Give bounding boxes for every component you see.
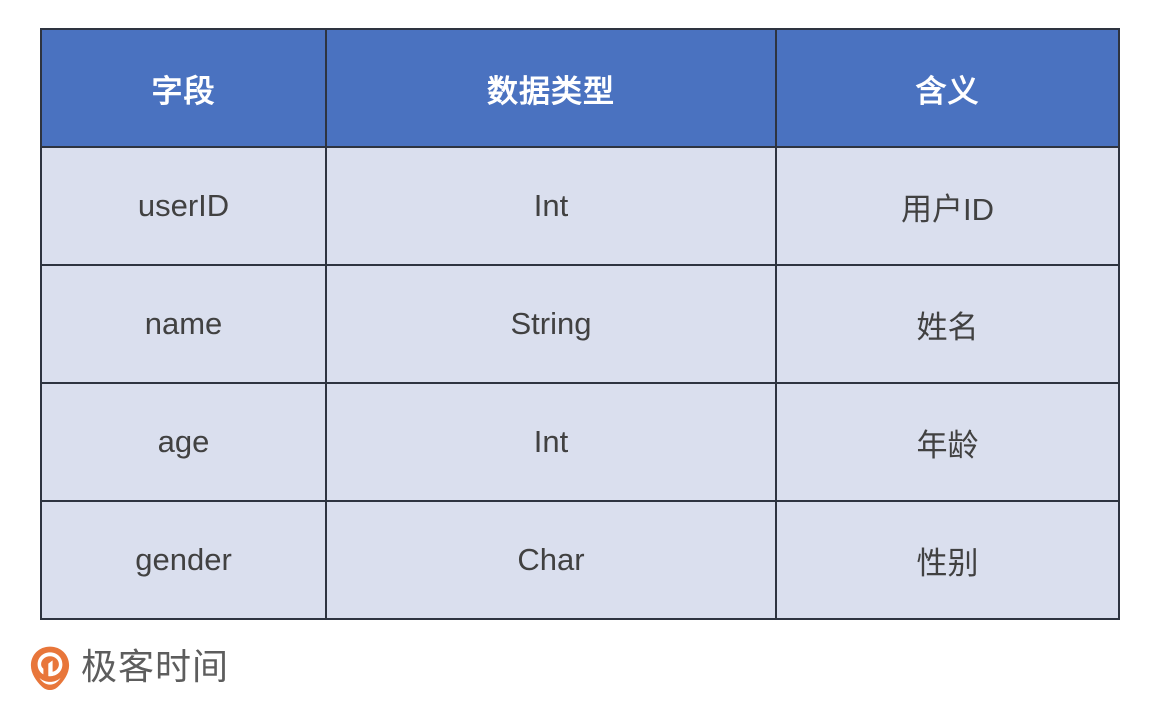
brand-name: 极客时间	[81, 650, 229, 686]
cell-field: age	[41, 383, 326, 501]
table-row: name String 姓名	[41, 265, 1119, 383]
table-header: 字段 数据类型 含义	[41, 29, 1119, 147]
cell-meaning: 性别	[776, 501, 1119, 619]
cell-field: userID	[41, 147, 326, 265]
column-header-meaning: 含义	[776, 29, 1119, 147]
table-row: userID Int 用户ID	[41, 147, 1119, 265]
cell-meaning: 姓名	[776, 265, 1119, 383]
cell-meaning: 年龄	[776, 383, 1119, 501]
column-header-type: 数据类型	[326, 29, 776, 147]
table-body: userID Int 用户ID name String 姓名 age Int 年…	[41, 147, 1119, 619]
cell-type: Int	[326, 383, 776, 501]
table-row: gender Char 性别	[41, 501, 1119, 619]
cell-type: String	[326, 265, 776, 383]
cell-type: Int	[326, 147, 776, 265]
field-schema-table: 字段 数据类型 含义 userID Int 用户ID name String 姓…	[40, 28, 1120, 620]
table-row: age Int 年龄	[41, 383, 1119, 501]
brand-logo: 极客时间	[30, 640, 229, 696]
cell-field: name	[41, 265, 326, 383]
geektime-pin-logo-icon	[30, 646, 70, 690]
slide-canvas: 字段 数据类型 含义 userID Int 用户ID name String 姓…	[0, 0, 1162, 715]
cell-type: Char	[326, 501, 776, 619]
cell-field: gender	[41, 501, 326, 619]
column-header-field: 字段	[41, 29, 326, 147]
cell-meaning: 用户ID	[776, 147, 1119, 265]
table-header-row: 字段 数据类型 含义	[41, 29, 1119, 147]
